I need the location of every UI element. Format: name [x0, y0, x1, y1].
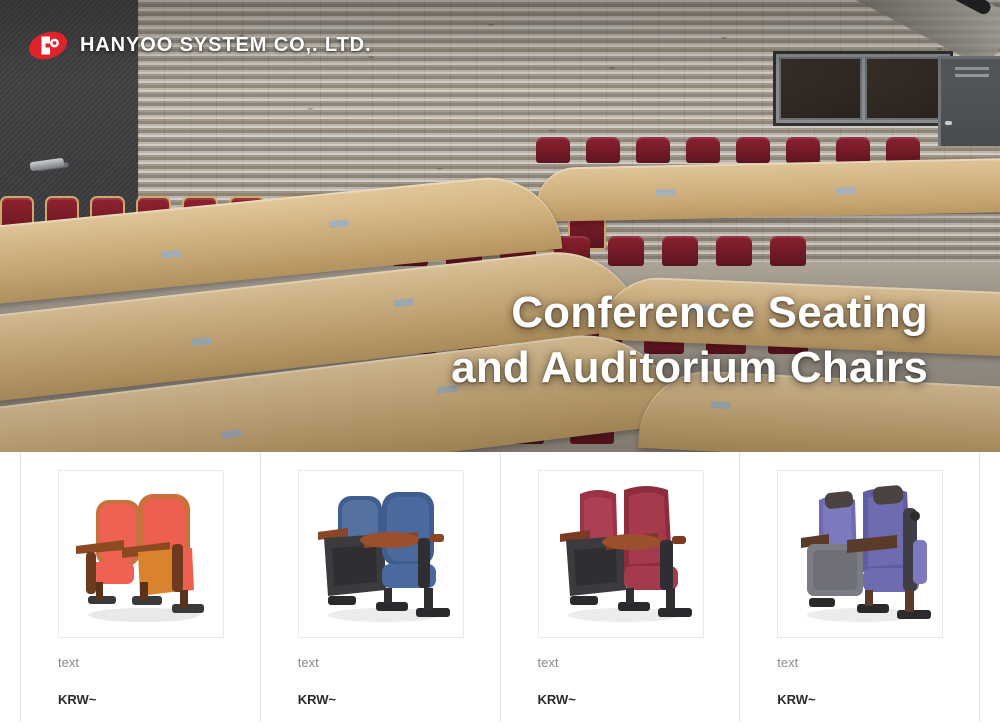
crimson-auditorium-chair-pair-icon — [546, 478, 696, 630]
product-price: KRW~ — [298, 692, 500, 707]
product-grid: text KRW~ — [0, 452, 1000, 728]
hanyoo-oval-logo-icon — [28, 30, 68, 61]
product-grid-inner: text KRW~ — [20, 452, 980, 722]
product-price: KRW~ — [777, 692, 979, 707]
product-card[interactable]: text KRW~ — [261, 452, 501, 722]
product-label: text — [777, 655, 979, 670]
product-card[interactable]: text KRW~ — [21, 452, 261, 722]
product-thumbnail[interactable] — [777, 470, 943, 638]
product-thumbnail[interactable] — [58, 470, 224, 638]
product-label: text — [298, 655, 500, 670]
red-auditorium-chair-pair-icon — [66, 478, 216, 630]
purple-auditorium-chair-pair-icon — [785, 478, 935, 630]
product-card[interactable]: text KRW~ — [501, 452, 741, 722]
product-thumbnail[interactable] — [298, 470, 464, 638]
page-root: HANYOO SYSTEM CO,. LTD. Conference Seati… — [0, 0, 1000, 728]
hero-title: Conference Seating and Auditorium Chairs — [451, 286, 928, 395]
product-price: KRW~ — [538, 692, 740, 707]
product-card[interactable]: text KRW~ — [740, 452, 980, 722]
brand-name: HANYOO SYSTEM CO,. LTD. — [80, 34, 371, 57]
product-thumbnail[interactable] — [538, 470, 704, 638]
product-label: text — [538, 655, 740, 670]
blue-auditorium-chair-pair-icon — [306, 478, 456, 630]
hero-title-line-1: Conference Seating — [451, 286, 928, 341]
hero-banner: HANYOO SYSTEM CO,. LTD. Conference Seati… — [0, 0, 1000, 452]
hero-title-line-2: and Auditorium Chairs — [451, 341, 928, 396]
product-price: KRW~ — [58, 692, 260, 707]
product-label: text — [58, 655, 260, 670]
brand-logo[interactable]: HANYOO SYSTEM CO,. LTD. — [28, 30, 371, 61]
